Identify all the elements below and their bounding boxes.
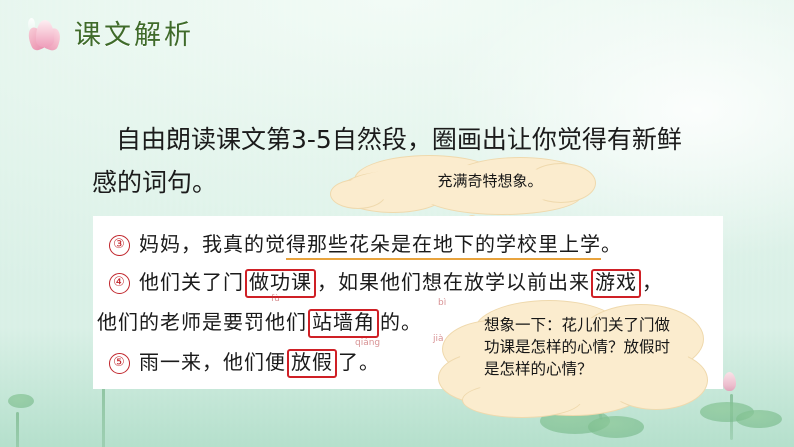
highlight-box-zuogongke: 做功课	[245, 269, 316, 298]
lotus-petal-icon	[28, 18, 62, 52]
passage-segment-plain: 。	[601, 234, 622, 256]
passage-segment-plain: 他们的老师是要罚他们	[97, 312, 307, 334]
cloud-text-imagination: 充满奇特想象。	[390, 171, 590, 191]
passage-line-4: ④他们关了门做功课，如果他们想在放学以前出来游戏，	[109, 266, 663, 295]
stem-shape	[16, 412, 19, 447]
leaf-shape	[736, 410, 782, 428]
leaf-shape	[8, 394, 34, 408]
passage-segment-plain: 妈妈，我真的觉	[139, 234, 286, 256]
slide-canvas: 课文解析 自由朗读课文第3-5自然段，圈画出让你觉得有新鲜感的词句。 充满奇特想…	[0, 0, 794, 447]
passage-segment-plain: ，如果他们想在放学以前出来	[317, 272, 590, 294]
callout-cloud-question: 想象一下：花儿们关了门做功课是怎样的心情？放假时是怎样的心情？	[438, 300, 708, 420]
passage-line-5: ⑤雨一来，他们便放假了。	[109, 346, 380, 375]
passage-segment-plain: 了。	[338, 352, 380, 374]
highlight-box-fangjia: 放假	[287, 349, 337, 378]
pinyin-annotation: fù	[271, 294, 280, 304]
passage-line-4-continued: 他们的老师是要罚他们站墙角的。	[97, 306, 422, 335]
petal-shape-center	[36, 20, 54, 47]
stem-shape	[730, 394, 733, 440]
highlight-box-zhanqiangjiao: 站墙角	[308, 309, 379, 338]
line-marker-3: ③	[109, 235, 130, 256]
passage-line-3: ③妈妈，我真的觉得那些花朵是在地下的学校里上学。	[109, 228, 622, 257]
page-title: 课文解析	[74, 22, 194, 49]
highlight-box-youxi: 游戏	[591, 269, 641, 298]
cloud-text-question: 想象一下：花儿们关了门做功课是怎样的心情？放假时是怎样的心情？	[484, 314, 674, 380]
passage-segment-plain: 他们关了门	[139, 272, 244, 294]
lotus-bud-shape	[723, 372, 736, 391]
passage-segment-underlined: 得那些花朵是在地下的学校里上学	[286, 234, 601, 260]
passage-segment-plain: 雨一来，他们便	[139, 352, 286, 374]
line-marker-4: ④	[109, 273, 130, 294]
passage-segment-plain: 的。	[380, 312, 422, 334]
leaf-shape	[700, 402, 754, 422]
callout-cloud-imagination: 充满奇特想象。	[330, 155, 598, 217]
pinyin-annotation: qiáng	[355, 338, 380, 348]
slide-header: 课文解析	[28, 18, 194, 52]
line-marker-5: ⑤	[109, 353, 130, 374]
lotus-leaf-left-decoration	[8, 392, 44, 447]
stem-shape	[102, 380, 105, 447]
passage-segment-plain: ，	[642, 272, 663, 294]
